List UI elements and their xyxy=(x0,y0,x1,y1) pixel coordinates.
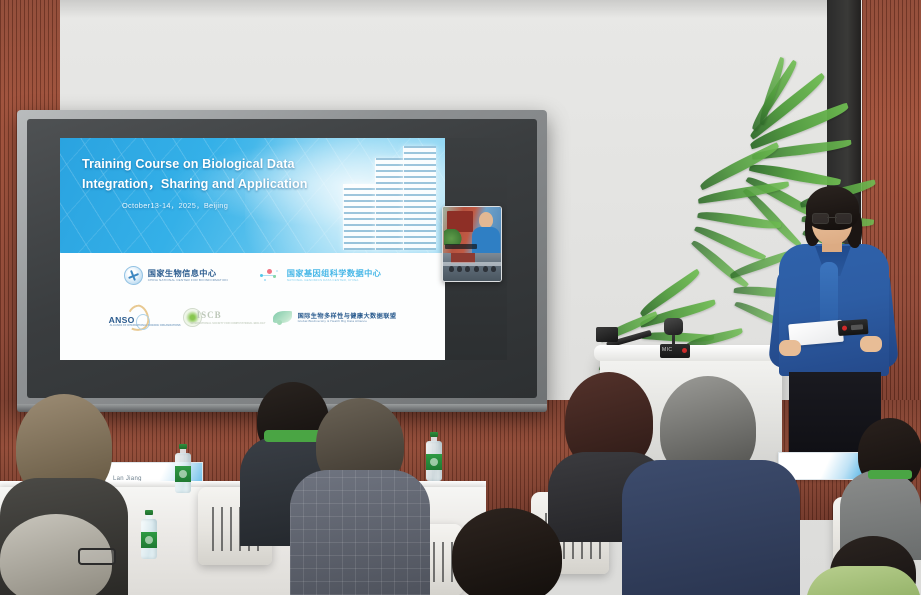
green-leaf-icon xyxy=(273,310,293,327)
lanyard-icon xyxy=(264,430,322,442)
sponsor-logo-row-2: ANSO ALLIANCE OF INTERNATIONAL SCIENCE O… xyxy=(60,305,445,331)
crosshair-circle-icon xyxy=(124,266,143,285)
sponsor-logo-row-1: 国家生物信息中心 CHINA NATIONAL CENTER FOR BIOIN… xyxy=(60,266,445,285)
logo-gbh: 国际生物多样性与健康大数据联盟 Global Biodiversity & He… xyxy=(273,310,397,327)
audience-head xyxy=(452,508,562,595)
logo-ngdc-en: NATIONAL GENOMICS DATA CENTER, CHINA xyxy=(287,279,381,282)
ceiling-shadow xyxy=(60,0,828,18)
building-illustration xyxy=(341,142,439,250)
presentation-slide: Training Course on Biological Data Integ… xyxy=(60,138,445,360)
lectern-top xyxy=(594,345,788,361)
microphone-icon xyxy=(664,318,683,335)
presentation-display[interactable]: Training Course on Biological Data Integ… xyxy=(17,110,547,410)
logo-cncb-en: CHINA NATIONAL CENTER FOR BIOINFORMATION xyxy=(148,279,228,282)
video-pane-room xyxy=(443,253,501,281)
slide-subtitle: October13-14，2025，Beijing xyxy=(122,200,228,211)
handheld-microphone-icon xyxy=(838,319,869,336)
remote-participant-window[interactable] xyxy=(442,206,502,282)
molecule-network-icon xyxy=(258,268,282,284)
camera-icon xyxy=(596,327,618,342)
green-orb-icon: ISCB INTERNATIONAL SOCIETY FOR COMPUTATI… xyxy=(183,307,239,329)
eyeglasses-icon xyxy=(812,213,852,222)
audience-torso xyxy=(290,470,430,595)
video-pane-speaker xyxy=(443,207,501,253)
record-indicator-icon xyxy=(682,348,687,353)
slide-title-line2: Integration，Sharing and Application xyxy=(82,175,341,195)
logo-iscb-en: INTERNATIONAL SOCIETY FOR COMPUTATIONAL … xyxy=(191,322,266,325)
slide-title: Training Course on Biological Data Integ… xyxy=(82,155,341,194)
logo-cncb: 国家生物信息中心 CHINA NATIONAL CENTER FOR BIOIN… xyxy=(124,266,228,285)
presenter-hand-right xyxy=(860,336,882,352)
logo-anso-en: ALLIANCE OF INTERNATIONAL SCIENCE ORGANI… xyxy=(110,324,181,327)
logo-iscb: ISCB INTERNATIONAL SOCIETY FOR COMPUTATI… xyxy=(183,307,239,329)
presenter-hand-left xyxy=(779,340,801,356)
microphone-receiver: MIC xyxy=(660,344,690,358)
anso-swan-icon: ANSO ALLIANCE OF INTERNATIONAL SCIENCE O… xyxy=(109,305,149,331)
microphone-label: MIC xyxy=(662,347,672,353)
logo-ngdc: 国家基因组科学数据中心 NATIONAL GENOMICS DATA CENTE… xyxy=(258,268,381,284)
conference-room-scene: Training Course on Biological Data Integ… xyxy=(0,0,921,595)
lanyard-icon xyxy=(868,470,912,479)
slide-header-banner: Training Course on Biological Data Integ… xyxy=(60,138,445,253)
logo-gbh-en: Global Biodiversity & Health Big Data Al… xyxy=(298,320,397,323)
slide-logo-area: 国家生物信息中心 CHINA NATIONAL CENTER FOR BIOIN… xyxy=(60,253,445,360)
logo-iscb-wordmark: ISCB xyxy=(197,310,222,320)
audience-torso xyxy=(622,460,800,595)
slide-title-line1: Training Course on Biological Data xyxy=(82,155,341,175)
display-screen[interactable]: Training Course on Biological Data Integ… xyxy=(60,138,445,360)
logo-anso: ANSO ALLIANCE OF INTERNATIONAL SCIENCE O… xyxy=(109,305,149,331)
eyeglasses-icon xyxy=(78,548,116,565)
